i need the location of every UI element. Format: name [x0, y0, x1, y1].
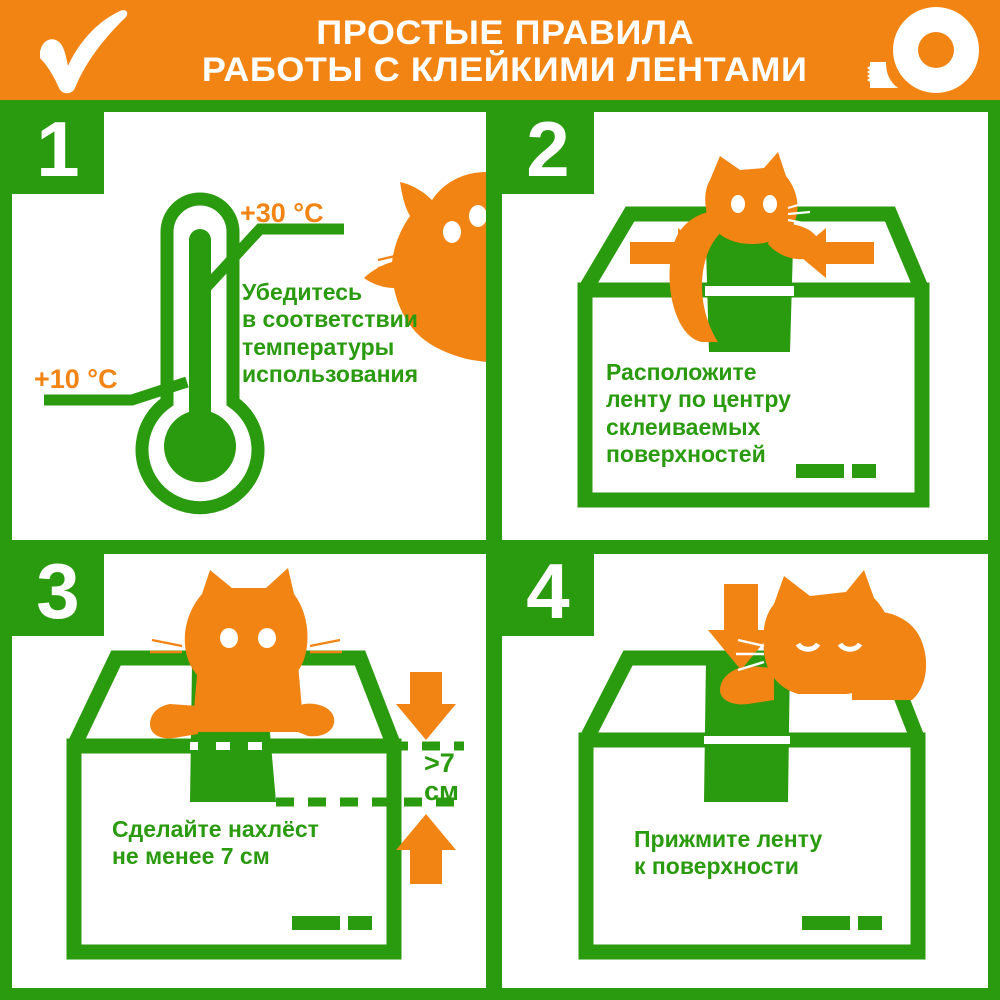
- panel-1-instruction: Убедитесь в соответствии температуры исп…: [242, 279, 418, 388]
- cat-eye-left: [731, 195, 745, 213]
- step-number-badge-1: 1: [12, 112, 104, 194]
- tape-roll-icon: [864, 4, 994, 98]
- cat-whiskers: [736, 640, 764, 670]
- panel-step-3: 3: [12, 554, 486, 988]
- title-line-1: ПРОСТЫЕ ПРАВИЛА: [316, 16, 694, 51]
- temperature-low-label: +10 °C: [34, 364, 118, 395]
- title-line-2: РАБОТЫ С КЛЕЙКИМИ ЛЕНТАМИ: [202, 53, 808, 88]
- cat-eye-right: [763, 195, 777, 213]
- cat-eye-left: [443, 221, 461, 243]
- overlap-measure-label: >7 см: [424, 750, 459, 805]
- checkmark-icon: [28, 8, 140, 94]
- panel-4-instruction: Прижмите ленту к поверхности: [634, 826, 822, 881]
- panel-2-instruction: Расположите ленту по центру склеиваемых …: [606, 359, 791, 468]
- cat-eye-right: [258, 628, 276, 648]
- temperature-high-label: +30 °C: [240, 198, 324, 229]
- panel-step-1: 1 +30 °C +10 °C Убедитесь в соответствии…: [12, 112, 486, 540]
- step-number-badge-4: 4: [502, 554, 594, 636]
- header-banner: ПРОСТЫЕ ПРАВИЛА РАБОТЫ С КЛЕЙКИМИ ЛЕНТАМ…: [0, 0, 1000, 100]
- panel-step-2: 2: [502, 112, 988, 540]
- panel-3-instruction: Сделайте нахлёст не менее 7 см: [112, 816, 319, 871]
- panel-step-4: 4: [502, 554, 988, 988]
- cat-eye-left: [220, 628, 238, 648]
- page-title: ПРОСТЫЕ ПРАВИЛА РАБОТЫ С КЛЕЙКИМИ ЛЕНТАМ…: [160, 6, 850, 98]
- infographic-poster: ПРОСТЫЕ ПРАВИЛА РАБОТЫ С КЛЕЙКИМИ ЛЕНТАМ…: [0, 0, 1000, 1000]
- step-number-badge-2: 2: [502, 112, 594, 194]
- step-number-badge-3: 3: [12, 554, 104, 636]
